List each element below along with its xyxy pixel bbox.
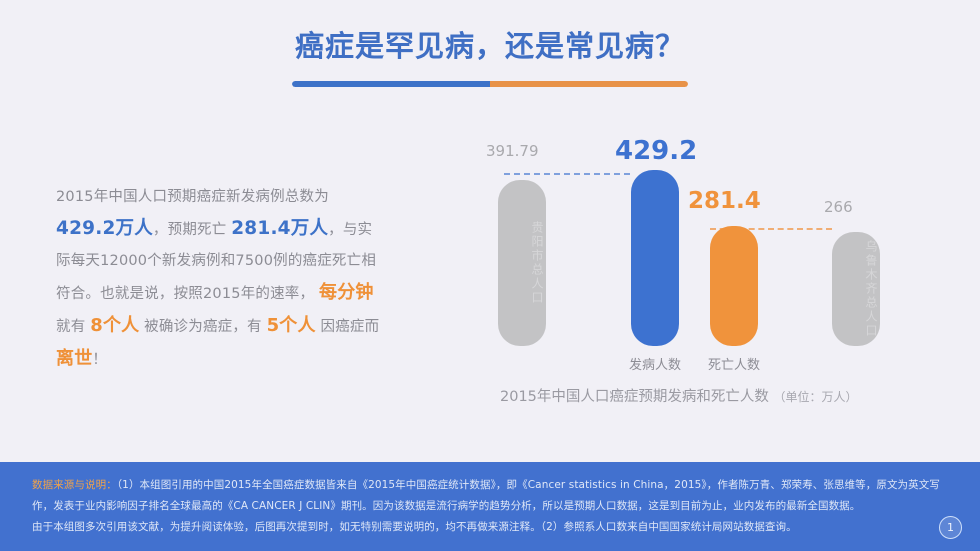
bar-label-guiyang: 贵阳市总人口 <box>498 221 546 305</box>
paragraph-segment-4: 就有 <box>56 319 85 335</box>
paragraph-segment-5: 被确诊为癌症，有 <box>144 319 262 335</box>
paragraph-highlight-per-minute: 每分钟 <box>319 282 374 303</box>
dashed-connector-incidence <box>504 173 630 175</box>
paragraph-segment-6: 因癌症而 <box>321 319 380 335</box>
page-number-badge: 1 <box>939 516 962 539</box>
paragraph-segment-2: ，预期死亡 <box>153 222 227 238</box>
title-text: 癌症是罕见病，还是常见病？ <box>0 26 980 66</box>
bar-value-label-incidence: 429.2 <box>615 136 697 166</box>
paragraph-highlight-five-people: 5个人 <box>267 315 316 336</box>
title-underline <box>292 81 688 87</box>
title-underline-orange-segment <box>490 81 688 87</box>
footer-source-label: 数据来源与说明： <box>32 479 117 491</box>
page-title: 癌症是罕见病，还是常见病？ <box>0 26 980 66</box>
summary-paragraph: 2015年中国人口预期癌症新发病例总数为 429.2万人，预期死亡 281.4万… <box>56 182 386 376</box>
chart-caption-unit: （单位：万人） <box>774 390 858 404</box>
paragraph-segment-7: ！ <box>92 352 107 368</box>
paragraph-mortality-value: 281.4万人 <box>231 218 328 239</box>
bar-mortality-count <box>710 226 758 346</box>
footer-note: 数据来源与说明：（1）本组图引用的中国2015年全国癌症数据皆来自《2015年中… <box>0 462 980 551</box>
x-axis-label-mortality: 死亡人数 <box>694 354 774 373</box>
paragraph-highlight-eight-people: 8个人 <box>90 315 139 336</box>
title-underline-blue-segment <box>292 81 490 87</box>
paragraph-incidence-value: 429.2万人 <box>56 218 153 239</box>
slide-root: 癌症是罕见病，还是常见病？ 2015年中国人口预期癌症新发病例总数为 429.2… <box>0 0 980 551</box>
x-axis-label-incidence: 发病人数 <box>615 354 695 373</box>
chart-caption-text: 2015年中国人口癌症预期发病和死亡人数 <box>500 389 769 405</box>
bar-label-urumqi: 乌鲁木齐总人口 <box>832 240 880 338</box>
bar-incidence-count <box>631 170 679 346</box>
chart-caption: 2015年中国人口癌症预期发病和死亡人数 （单位：万人） <box>500 385 858 406</box>
bar-value-label-mortality: 281.4 <box>688 188 761 214</box>
bar-urumqi-population: 乌鲁木齐总人口 <box>832 232 880 346</box>
bar-value-label-guiyang: 391.79 <box>486 142 539 160</box>
footer-line-1: 数据来源与说明：（1）本组图引用的中国2015年全国癌症数据皆来自《2015年中… <box>32 475 952 517</box>
footer-line-1-text: （1）本组图引用的中国2015年全国癌症数据皆来自《2015年中国癌症统计数据》… <box>32 479 940 512</box>
bar-chart: 391.79 429.2 281.4 266 贵阳市总人口 乌鲁木齐总人口 发病… <box>460 128 930 378</box>
footer-line-2: 由于本组图多次引用该文献，为提升阅读体验，后图再次提到时，如无特别需要说明的，均… <box>32 517 952 538</box>
paragraph-segment-1: 2015年中国人口预期癌症新发病例总数为 <box>56 189 329 205</box>
bar-value-label-urumqi: 266 <box>824 198 853 216</box>
paragraph-highlight-death: 离世 <box>56 348 92 369</box>
bar-guiyang-population: 贵阳市总人口 <box>498 180 546 346</box>
